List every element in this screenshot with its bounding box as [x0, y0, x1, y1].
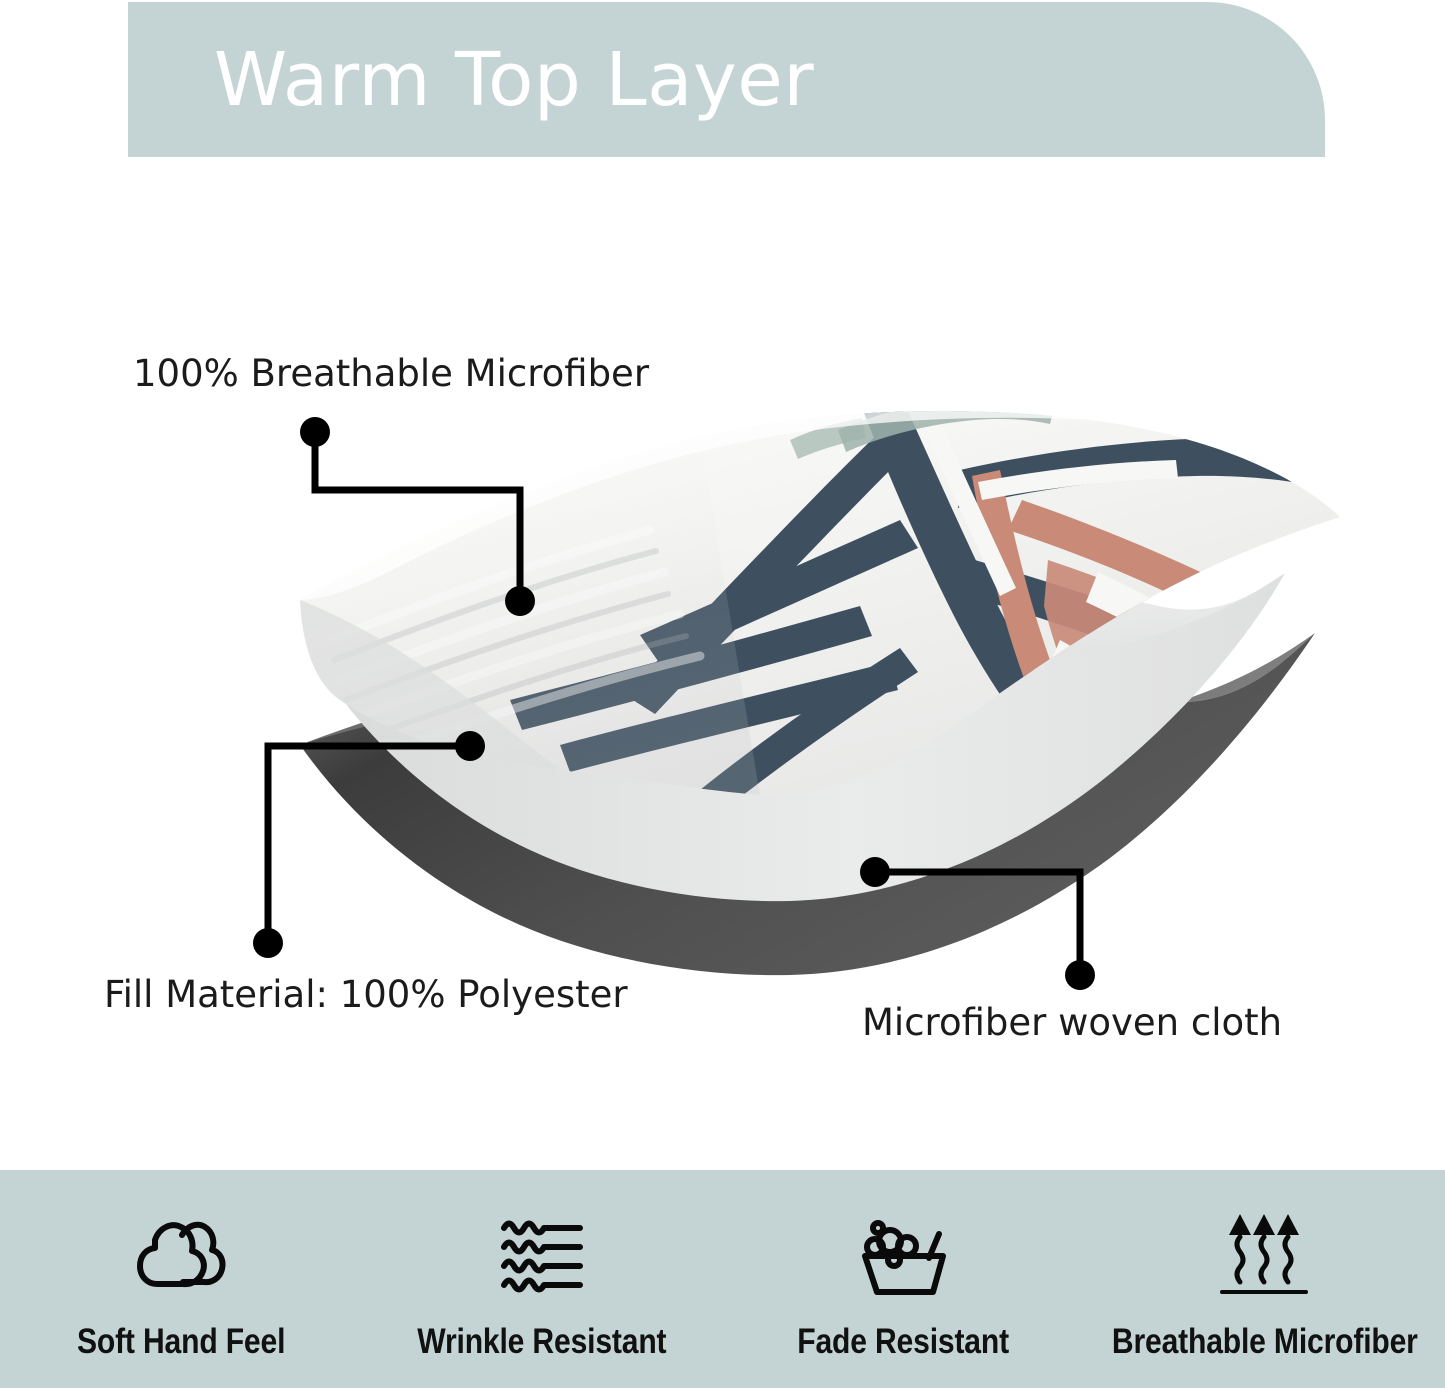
feature-breathable-microfiber: Breathable Microfiber: [1084, 1170, 1445, 1362]
feature-label-wrinkle-resistant: Wrinkle Resistant: [417, 1322, 666, 1362]
callout-label-fill-material: Fill Material: 100% Polyester: [104, 973, 628, 1016]
cloud-icon: [125, 1208, 237, 1304]
feature-label-breathable-microfiber: Breathable Microfiber: [1111, 1322, 1417, 1362]
feature-label-soft-hand-feel: Soft Hand Feel: [76, 1322, 284, 1362]
up-arrows-icon: [1208, 1208, 1320, 1304]
feature-label-fade-resistant: Fade Resistant: [797, 1322, 1009, 1362]
feature-wrinkle-resistant: Wrinkle Resistant: [361, 1170, 722, 1362]
callout-label-breathable-microfiber: 100% Breathable Microfiber: [133, 352, 649, 395]
feature-bar: Soft Hand Feel Wrinkle Resistant: [0, 1170, 1445, 1388]
feature-fade-resistant: Fade Resistant: [723, 1170, 1084, 1362]
wavy-lines-icon: [486, 1208, 598, 1304]
wash-basin-icon: [847, 1208, 959, 1304]
feature-soft-hand-feel: Soft Hand Feel: [0, 1170, 361, 1362]
callout-label-microfiber-woven-cloth: Microfiber woven cloth: [862, 1001, 1282, 1044]
